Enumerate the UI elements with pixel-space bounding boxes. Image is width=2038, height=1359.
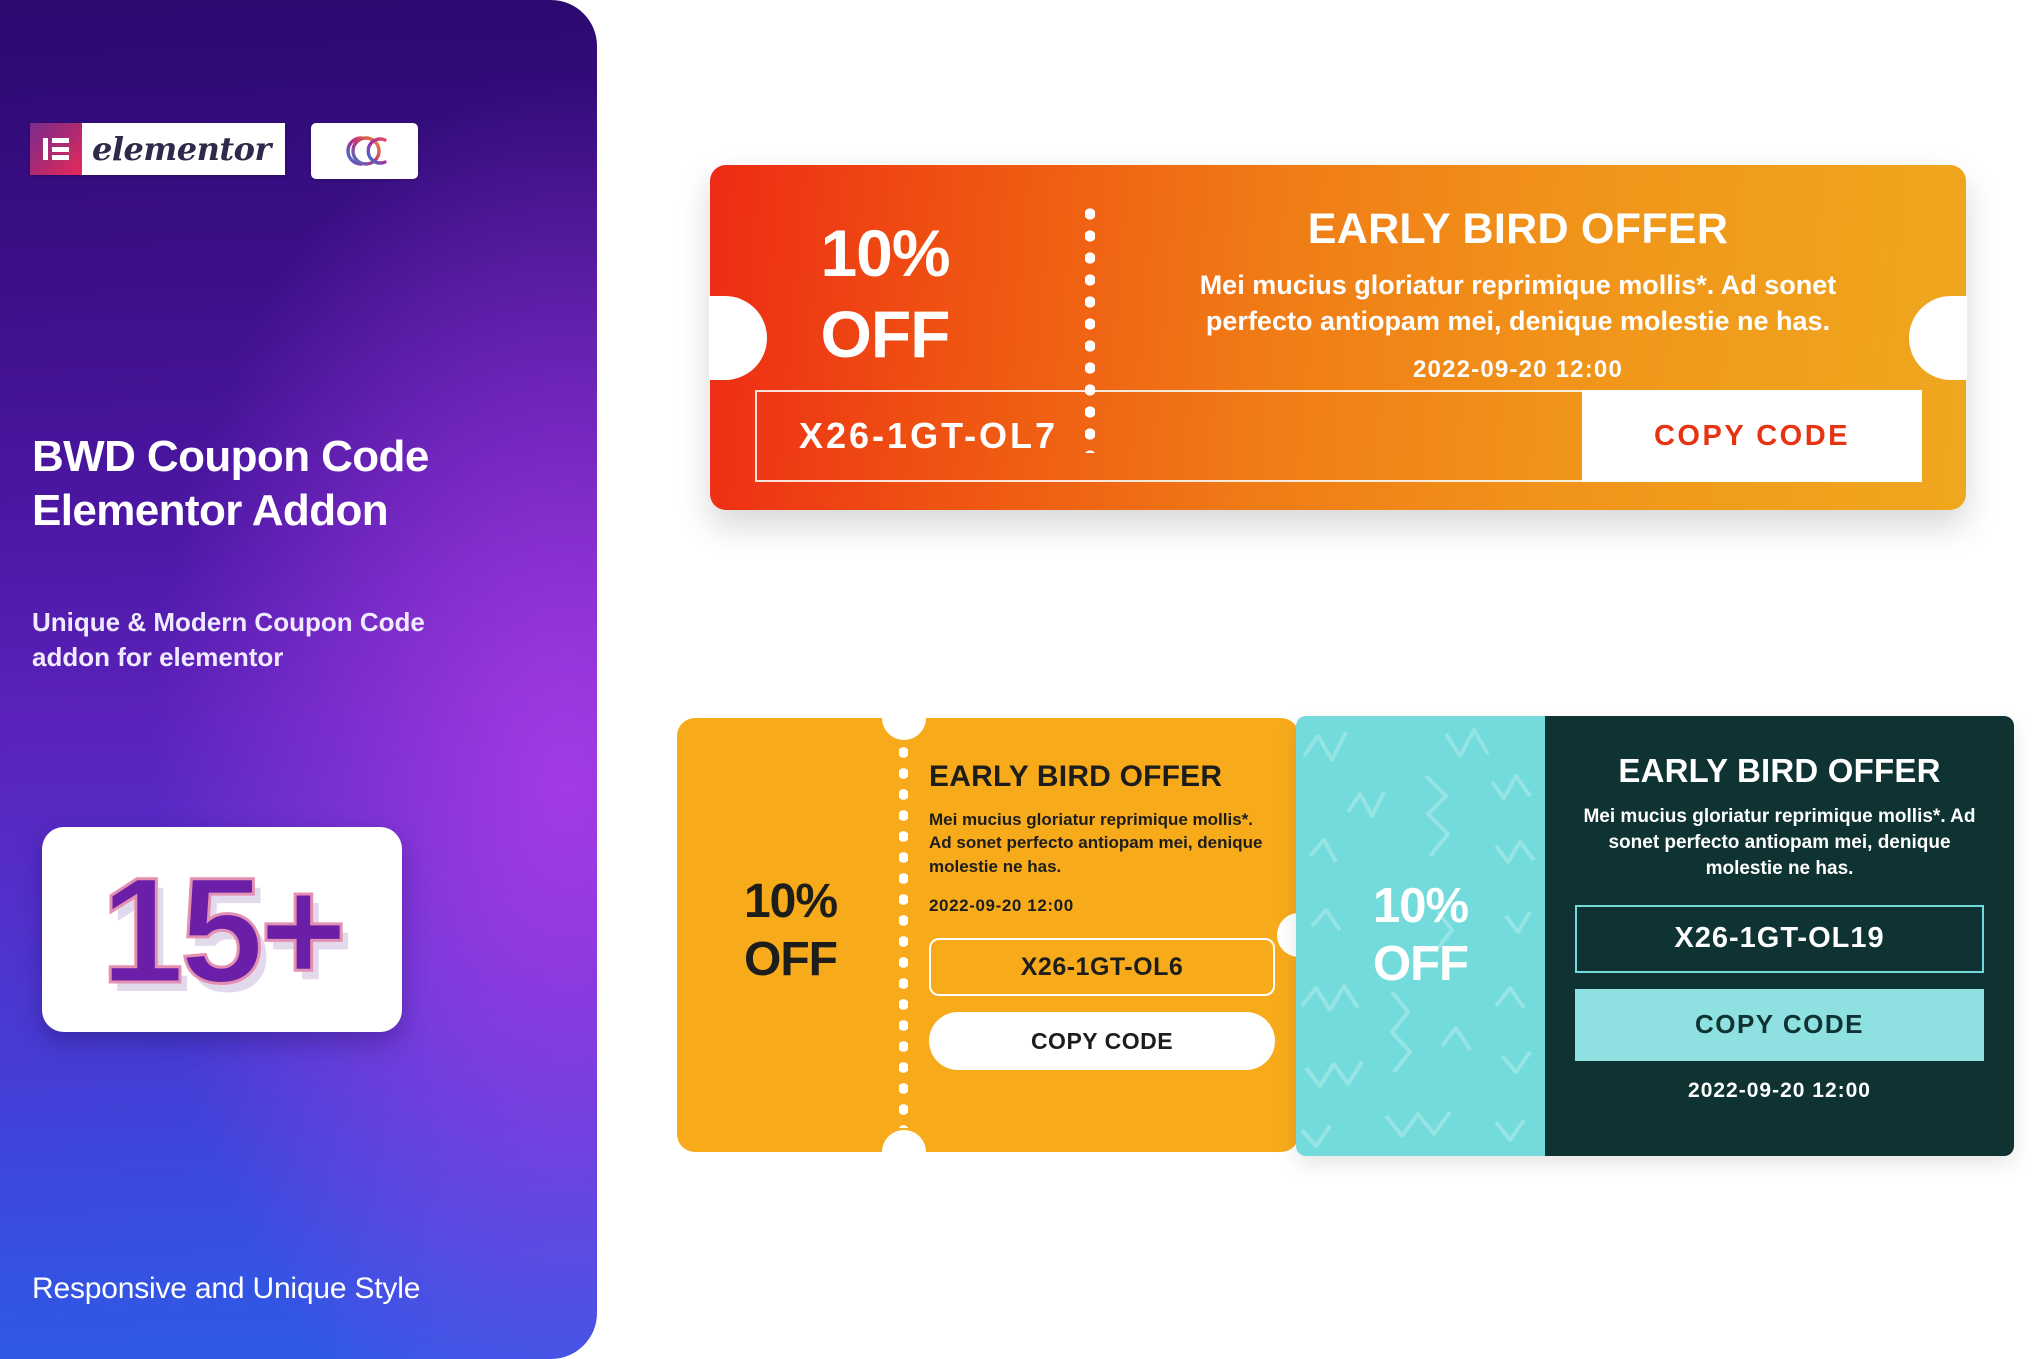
offer-expiry-date: 2022-09-20 12:00 [1100,356,1936,384]
coupon-card-teal: 10% OFF EARLY BIRD OFFER Mei mucius glor… [1296,716,2014,1156]
coupon-body: EARLY BIRD OFFER Mei mucius gloriatur re… [1545,716,2014,1156]
discount-percent: 10% [677,873,904,931]
discount-off-label: OFF [677,931,904,989]
offer-expiry-date: 2022-09-20 12:00 [1575,1079,1984,1103]
discount-amount: 10% OFF [710,213,1060,374]
logo-row: elementor [30,123,418,179]
coupon-body: EARLY BIRD OFFER Mei mucius gloriatur re… [929,760,1275,1070]
offer-description: Mei mucius gloriatur reprimique mollis*.… [1100,268,1936,340]
offer-title: EARLY BIRD OFFER [1100,205,1936,254]
page-title: BWD Coupon Code Elementor Addon [32,430,552,537]
coupon-code-value[interactable]: X26-1GT-OL19 [1575,905,1984,973]
offer-expiry-date: 2022-09-20 12:00 [929,896,1275,916]
widget-count-value: 15+ [101,855,343,1005]
copy-code-button[interactable]: COPY CODE [1575,989,1984,1061]
coupon-card-yellow: 10% OFF EARLY BIRD OFFER Mei mucius glor… [677,718,1299,1152]
coupon-code-bar: X26-1GT-OL7 COPY CODE [755,390,1922,482]
perforation-divider [899,742,908,1128]
cc-circles-icon [311,123,418,179]
elementor-logo: elementor [30,123,285,175]
discount-off-label: OFF [710,294,1060,375]
discount-off-label: OFF [1373,936,1468,994]
elementor-wordmark: elementor [82,123,285,175]
sidebar-footer-text: Responsive and Unique Style [32,1272,420,1306]
ticket-notch-bottom [882,1130,926,1174]
coupon-code-value[interactable]: X26-1GT-OL7 [757,392,1582,480]
page-subtitle: Unique & Modern Coupon Code addon for el… [32,605,502,675]
ticket-notch-top [882,696,926,740]
offer-description: Mei mucius gloriatur reprimique mollis*.… [929,808,1275,878]
coupon-body: EARLY BIRD OFFER Mei mucius gloriatur re… [1100,205,1936,384]
offer-title: EARLY BIRD OFFER [1575,752,1984,790]
copy-code-button[interactable]: COPY CODE [929,1012,1275,1070]
coupon-discount-panel: 10% OFF [1296,716,1545,1156]
coupon-card-gradient: 10% OFF EARLY BIRD OFFER Mei mucius glor… [710,165,1966,510]
coupon-code-value[interactable]: X26-1GT-OL6 [929,938,1275,996]
offer-description: Mei mucius gloriatur reprimique mollis*.… [1575,804,1984,883]
elementor-e-icon [30,123,82,175]
discount-percent: 10% [710,213,1060,294]
discount-percent: 10% [1373,878,1468,936]
widget-count-card: 15+ [42,827,402,1032]
sidebar-panel: elementor [0,0,597,1359]
copy-code-button[interactable]: COPY CODE [1582,390,1922,482]
discount-amount: 10% OFF [677,873,904,988]
offer-title: EARLY BIRD OFFER [929,760,1275,794]
discount-amount: 10% OFF [1373,878,1468,994]
promo-banner: elementor [0,0,2038,1359]
